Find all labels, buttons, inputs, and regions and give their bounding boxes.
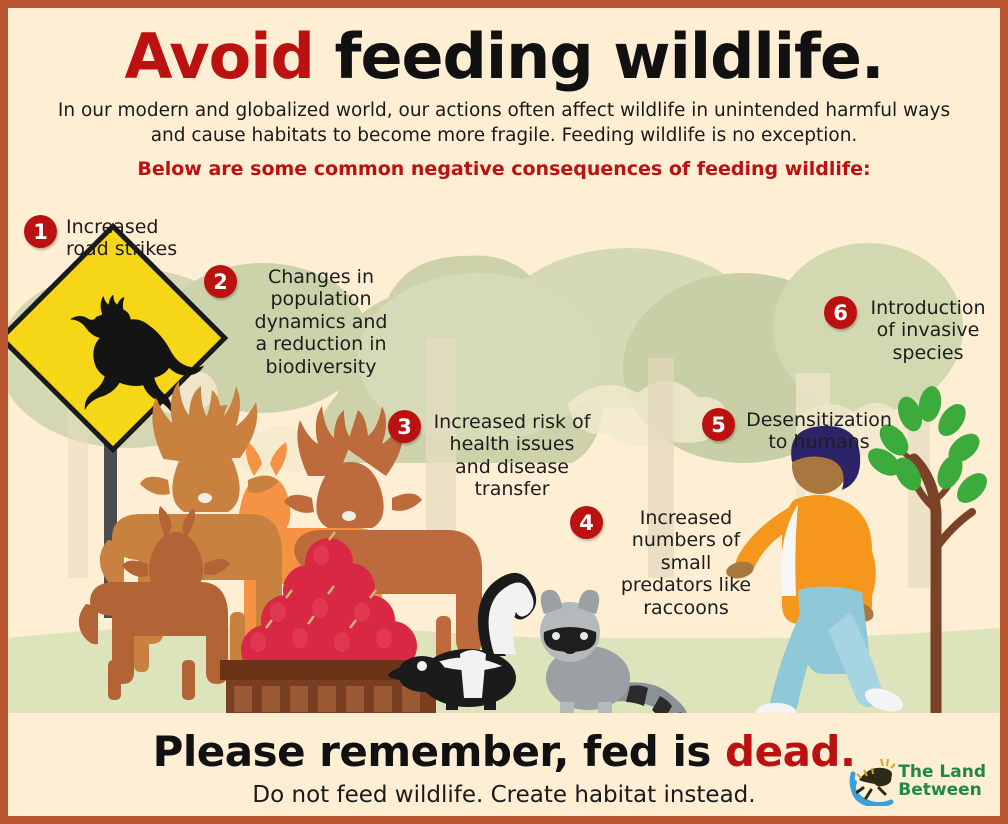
page-title: Avoid feeding wildlife. (8, 8, 1000, 89)
intro-paragraph: In our modern and globalized world, our … (39, 99, 969, 149)
poster-header: Avoid feeding wildlife. In our modern an… (8, 8, 1000, 208)
consequence-3: 3 Increased risk of health issues and di… (388, 410, 598, 501)
organization-logo: The Land Between (849, 758, 986, 806)
poster-footer: Please remember, fed is dead. Do not fee… (8, 713, 1000, 816)
consequence-4: 4 Increased numbers of small predators l… (570, 506, 760, 619)
consequence-text: Increased numbers of small predators lik… (612, 506, 760, 619)
logo-line-2: Between (898, 782, 986, 800)
consequence-1: 1 Increased road strikes (24, 215, 199, 261)
badge-number: 5 (702, 408, 735, 441)
title-rest: feeding wildlife. (314, 20, 884, 93)
consequence-text: Increased risk of health issues and dise… (430, 410, 594, 501)
consequence-6: 6 Introduction of invasive species (824, 296, 994, 364)
salamander-icon (849, 758, 895, 806)
consequence-2: 2 Changes in population dynamics and a r… (204, 265, 400, 378)
badge-number: 4 (570, 506, 603, 539)
consequence-text: Changes in population dynamics and a red… (246, 265, 396, 378)
footer-headline-red: dead. (725, 727, 855, 776)
consequence-5: 5 Desensitization to humans (702, 408, 898, 454)
logo-text: The Land Between (898, 764, 986, 800)
lead-in-text: Below are some common negative consequen… (39, 158, 969, 180)
infographic-poster: Avoid feeding wildlife. In our modern an… (0, 0, 1008, 824)
illustration-scene: 1 Increased road strikes 2 Changes in po… (8, 208, 1000, 713)
footer-headline-black: Please remember, fed is (153, 727, 725, 776)
consequence-text: Desensitization to humans (744, 408, 894, 454)
consequence-text: Increased road strikes (66, 215, 190, 261)
badge-number: 2 (204, 265, 237, 298)
badge-number: 6 (824, 296, 857, 329)
title-accent-word: Avoid (124, 20, 313, 93)
badge-number: 3 (388, 410, 421, 443)
badge-number: 1 (24, 215, 57, 248)
consequence-text: Introduction of invasive species (866, 296, 990, 364)
